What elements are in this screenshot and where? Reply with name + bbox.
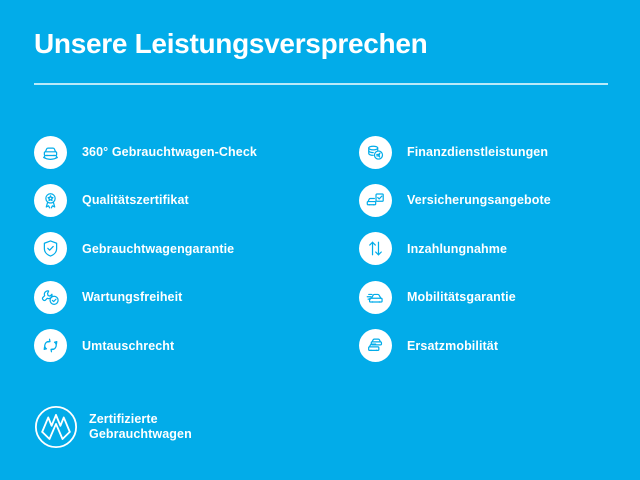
promise-item-360-check: 360° Gebrauchtwagen-Check (34, 128, 334, 176)
promise-label: Wartungsfreiheit (82, 291, 182, 304)
two-cars-icon (359, 329, 392, 362)
promise-item-exchange-right: Umtauschrecht (34, 322, 334, 370)
promise-item-warranty: Gebrauchtwagengarantie (34, 225, 334, 273)
award-rosette-icon (34, 184, 67, 217)
title-divider (34, 83, 608, 85)
promise-item-insurance-offers: Versicherungsangebote (359, 176, 634, 224)
promise-label: Mobilitätsgarantie (407, 291, 516, 304)
brand-text: Zertifizierte Gebrauchtwagen (89, 412, 192, 442)
brand-lockup: Zertifizierte Gebrauchtwagen (33, 404, 192, 450)
promise-item-trade-in: Inzahlungnahme (359, 225, 634, 273)
shield-check-icon (34, 232, 67, 265)
promise-item-replacement-mobility: Ersatzmobilität (359, 322, 634, 370)
promise-label: Finanzdienstleistungen (407, 146, 548, 159)
promise-label: Qualitätszertifikat (82, 194, 189, 207)
car-document-check-icon (359, 184, 392, 217)
wrench-check-icon (34, 281, 67, 314)
promise-item-mobility-guarantee: Mobilitätsgarantie (359, 273, 634, 321)
promise-label: Ersatzmobilität (407, 340, 498, 353)
promises-column-left: 360° Gebrauchtwagen-Check Qualitätszerti… (34, 128, 334, 370)
brand-line-1: Zertifizierte (89, 412, 192, 427)
promise-label: Umtauschrecht (82, 340, 174, 353)
promise-item-maintenance-free: Wartungsfreiheit (34, 273, 334, 321)
promise-banner: Unsere Leistungsversprechen 360° Gebrauc… (0, 0, 640, 480)
car-speed-icon (359, 281, 392, 314)
vw-logo-icon (33, 404, 79, 450)
promise-label: Versicherungsangebote (407, 194, 551, 207)
up-down-arrows-icon (359, 232, 392, 265)
car-360-check-icon (34, 136, 67, 169)
promise-label: 360° Gebrauchtwagen-Check (82, 146, 257, 159)
exchange-arrows-icon (34, 329, 67, 362)
page-title: Unsere Leistungsversprechen (34, 28, 427, 60)
brand-line-2: Gebrauchtwagen (89, 427, 192, 442)
promise-label: Inzahlungnahme (407, 243, 507, 256)
coins-euro-icon (359, 136, 392, 169)
promise-label: Gebrauchtwagengarantie (82, 243, 234, 256)
promise-item-quality-certificate: Qualitätszertifikat (34, 176, 334, 224)
promise-item-financial-services: Finanzdienstleistungen (359, 128, 634, 176)
promises-column-right: Finanzdienstleistungen Versicherungsange… (359, 128, 634, 370)
